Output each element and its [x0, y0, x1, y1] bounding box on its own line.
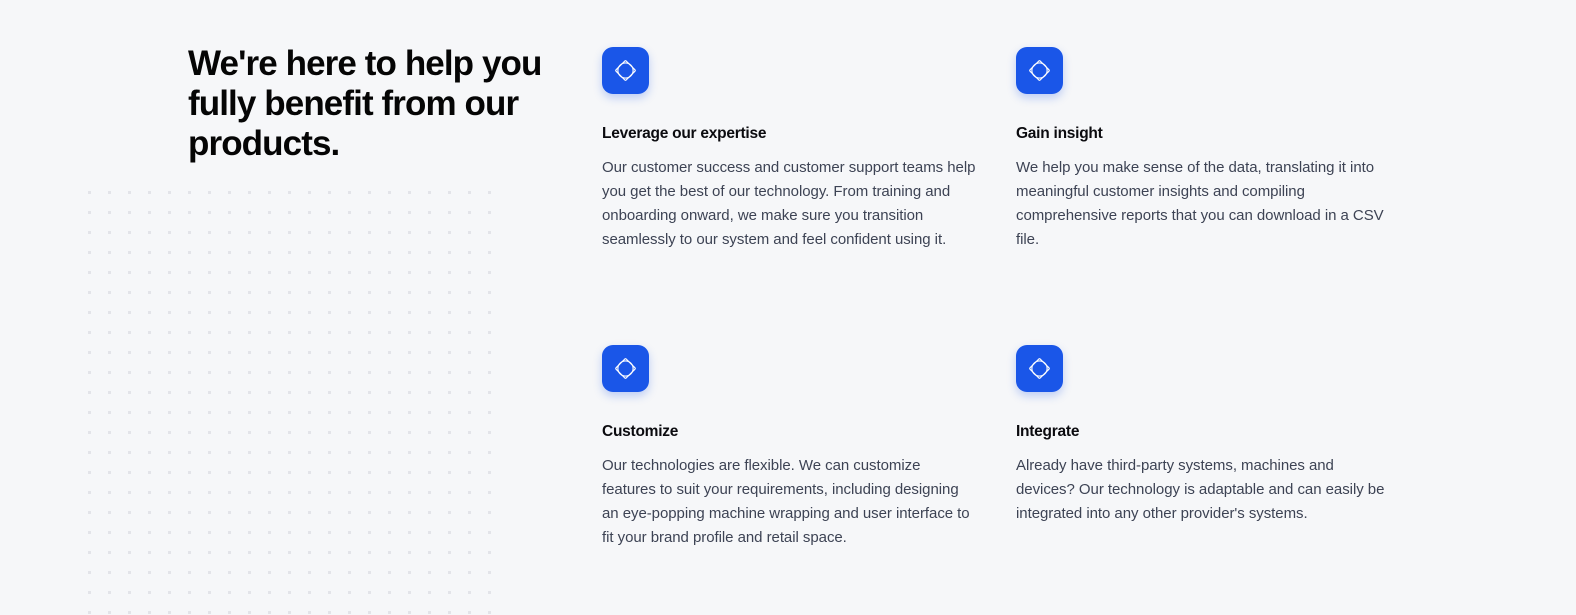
features-section: We're here to help you fully benefit fro… — [0, 0, 1576, 615]
feature-card-gain-insight: Gain insight We help you make sense of t… — [1016, 47, 1396, 345]
feature-card-customize: Customize Our technologies are flexible.… — [602, 345, 978, 550]
diamond-circle-icon — [602, 345, 649, 392]
diamond-circle-icon — [602, 47, 649, 94]
feature-card-body: We help you make sense of the data, tran… — [1016, 156, 1396, 252]
feature-card-leverage-our-expertise: Leverage our expertise Our customer succ… — [602, 47, 978, 345]
diamond-circle-icon — [1016, 47, 1063, 94]
feature-cards-grid: Leverage our expertise Our customer succ… — [602, 47, 1402, 550]
feature-card-title: Gain insight — [1016, 125, 1396, 143]
headline-block: We're here to help you fully benefit fro… — [188, 44, 578, 164]
dot-grid-decoration — [88, 191, 498, 615]
feature-card-title: Leverage our expertise — [602, 125, 978, 143]
feature-card-body: Already have third-party systems, machin… — [1016, 454, 1396, 526]
feature-card-body: Our customer success and customer suppor… — [602, 156, 978, 252]
feature-card-title: Integrate — [1016, 423, 1396, 441]
feature-card-body: Our technologies are flexible. We can cu… — [602, 454, 978, 550]
feature-card-title: Customize — [602, 423, 978, 441]
feature-card-integrate: Integrate Already have third-party syste… — [1016, 345, 1396, 550]
page-title: We're here to help you fully benefit fro… — [188, 44, 568, 164]
diamond-circle-icon — [1016, 345, 1063, 392]
